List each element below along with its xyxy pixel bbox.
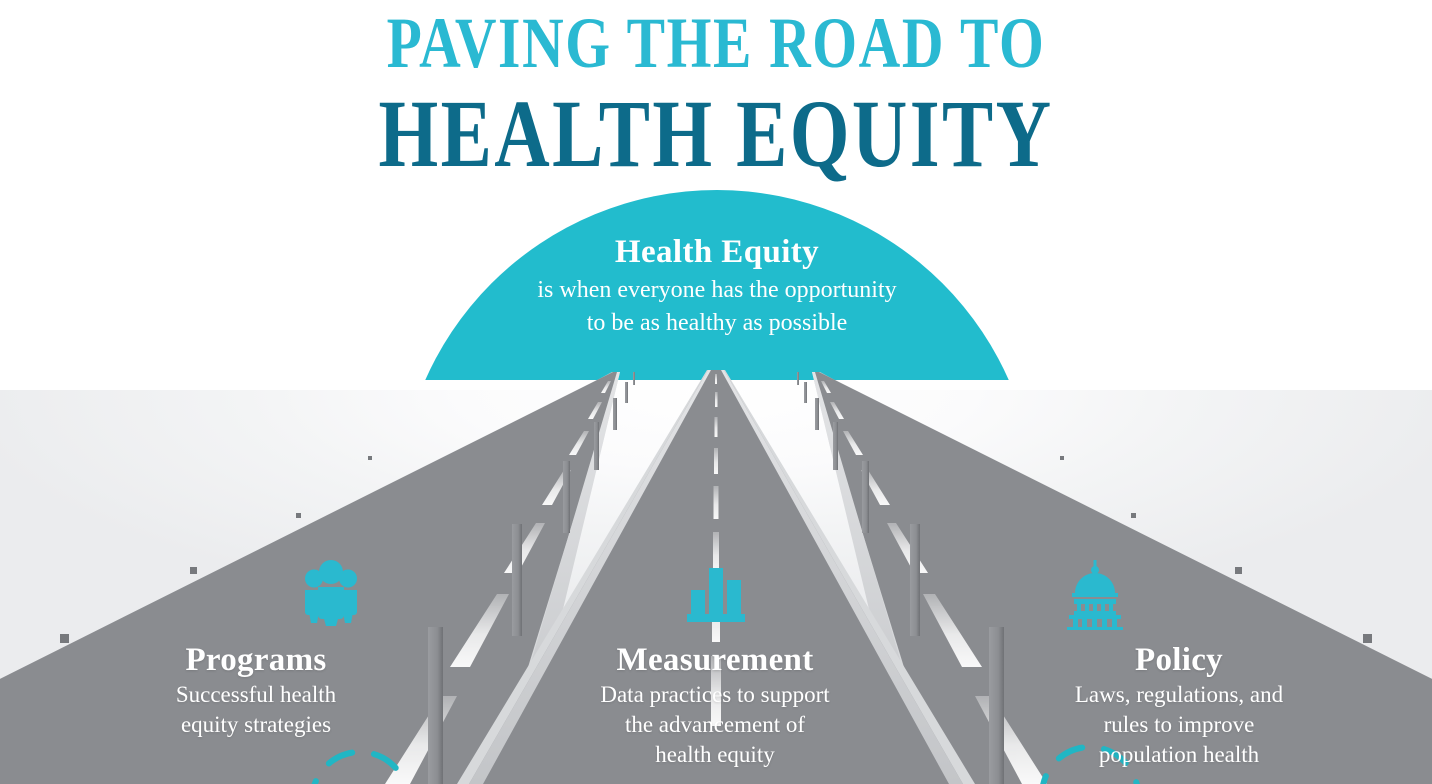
road-panel-programs: Programs Successful health equity strate… (96, 640, 416, 740)
road-desc-policy-line-1: Laws, regulations, and (1019, 680, 1339, 710)
three-people-icon (296, 560, 366, 631)
road-desc-policy-line-2: rules to improve (1019, 710, 1339, 740)
road-desc-measurement-line-3: health equity (555, 740, 875, 770)
road-desc-policy-line-3: population health (1019, 740, 1339, 770)
bar-chart-icon (685, 562, 747, 629)
title-line-2: HEALTH EQUITY (143, 82, 1289, 186)
road-title-policy: Policy (1019, 640, 1339, 680)
page-title: PAVING THE ROAD TO HEALTH EQUITY (0, 0, 1432, 186)
capitol-building-icon (1066, 560, 1124, 635)
title-line-1: PAVING THE ROAD TO (143, 0, 1289, 86)
road-panel-measurement: Measurement Data practices to support th… (555, 640, 875, 770)
road-desc-measurement-line-1: Data practices to support (555, 680, 875, 710)
road-desc-measurement-line-2: the advancement of (555, 710, 875, 740)
road-desc-programs-line-2: equity strategies (96, 710, 416, 740)
road-panel-policy: Policy Laws, regulations, and rules to i… (1019, 640, 1339, 770)
road-title-programs: Programs (96, 640, 416, 680)
infographic-canvas: PAVING THE ROAD TO HEALTH EQUITY Health … (0, 0, 1432, 784)
road-desc-programs-line-1: Successful health (96, 680, 416, 710)
road-title-measurement: Measurement (555, 640, 875, 680)
